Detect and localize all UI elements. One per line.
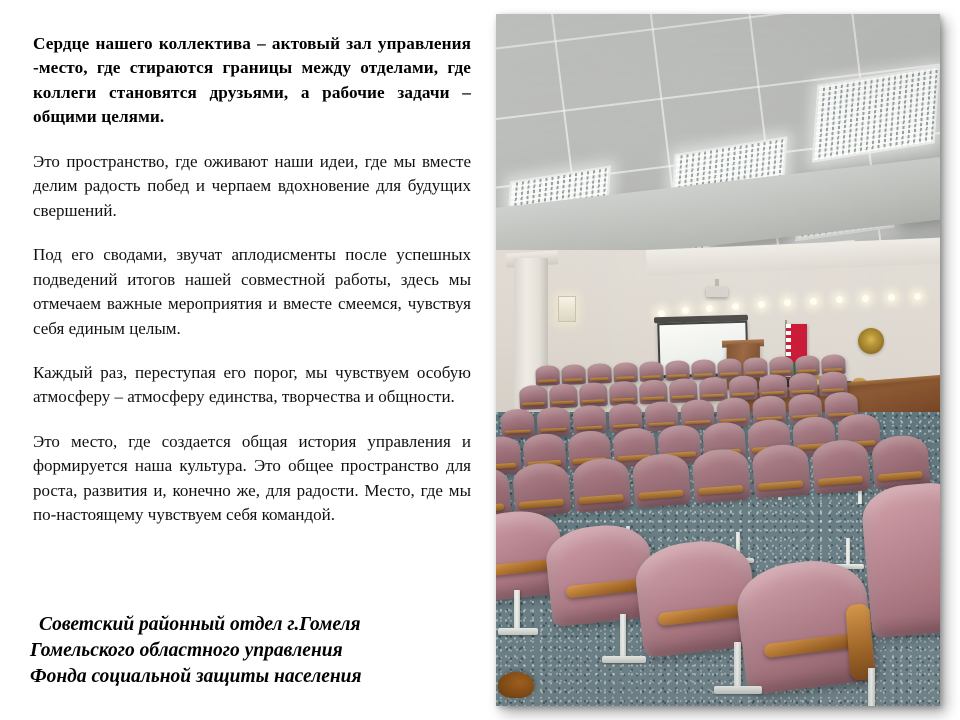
body-paragraph-2: Под его сводами, звучат аплодисменты пос… <box>33 243 471 341</box>
photo-scene <box>496 14 940 706</box>
body-paragraph-3: Каждый раз, переступая его порог, мы чув… <box>33 361 471 410</box>
body-paragraph-4: Это место, где создается общая история у… <box>33 430 471 528</box>
text-panel: Сердце нашего коллектива – актовый зал у… <box>33 32 471 528</box>
signature-block: Советский районный отдел г.Гомеля Гомель… <box>30 612 470 690</box>
body-paragraph-1: Это пространство, где оживают наши идеи,… <box>33 150 471 223</box>
slide-canvas: Сердце нашего коллектива – актовый зал у… <box>0 0 960 720</box>
ceiling-projector <box>706 286 728 297</box>
state-emblem-icon <box>858 328 884 354</box>
signature-line-1: Советский районный отдел г.Гомеля <box>30 612 470 638</box>
lead-paragraph: Сердце нашего коллектива – актовый зал у… <box>33 32 471 130</box>
foreground-armrest-corner <box>498 672 534 698</box>
signature-line-3: Фонда социальной защиты населения <box>30 664 470 690</box>
hall-photograph <box>496 14 940 706</box>
wall-sconce <box>558 296 576 322</box>
signature-line-2: Гомельского областного управления <box>30 638 470 664</box>
foreground-seat <box>860 479 940 638</box>
